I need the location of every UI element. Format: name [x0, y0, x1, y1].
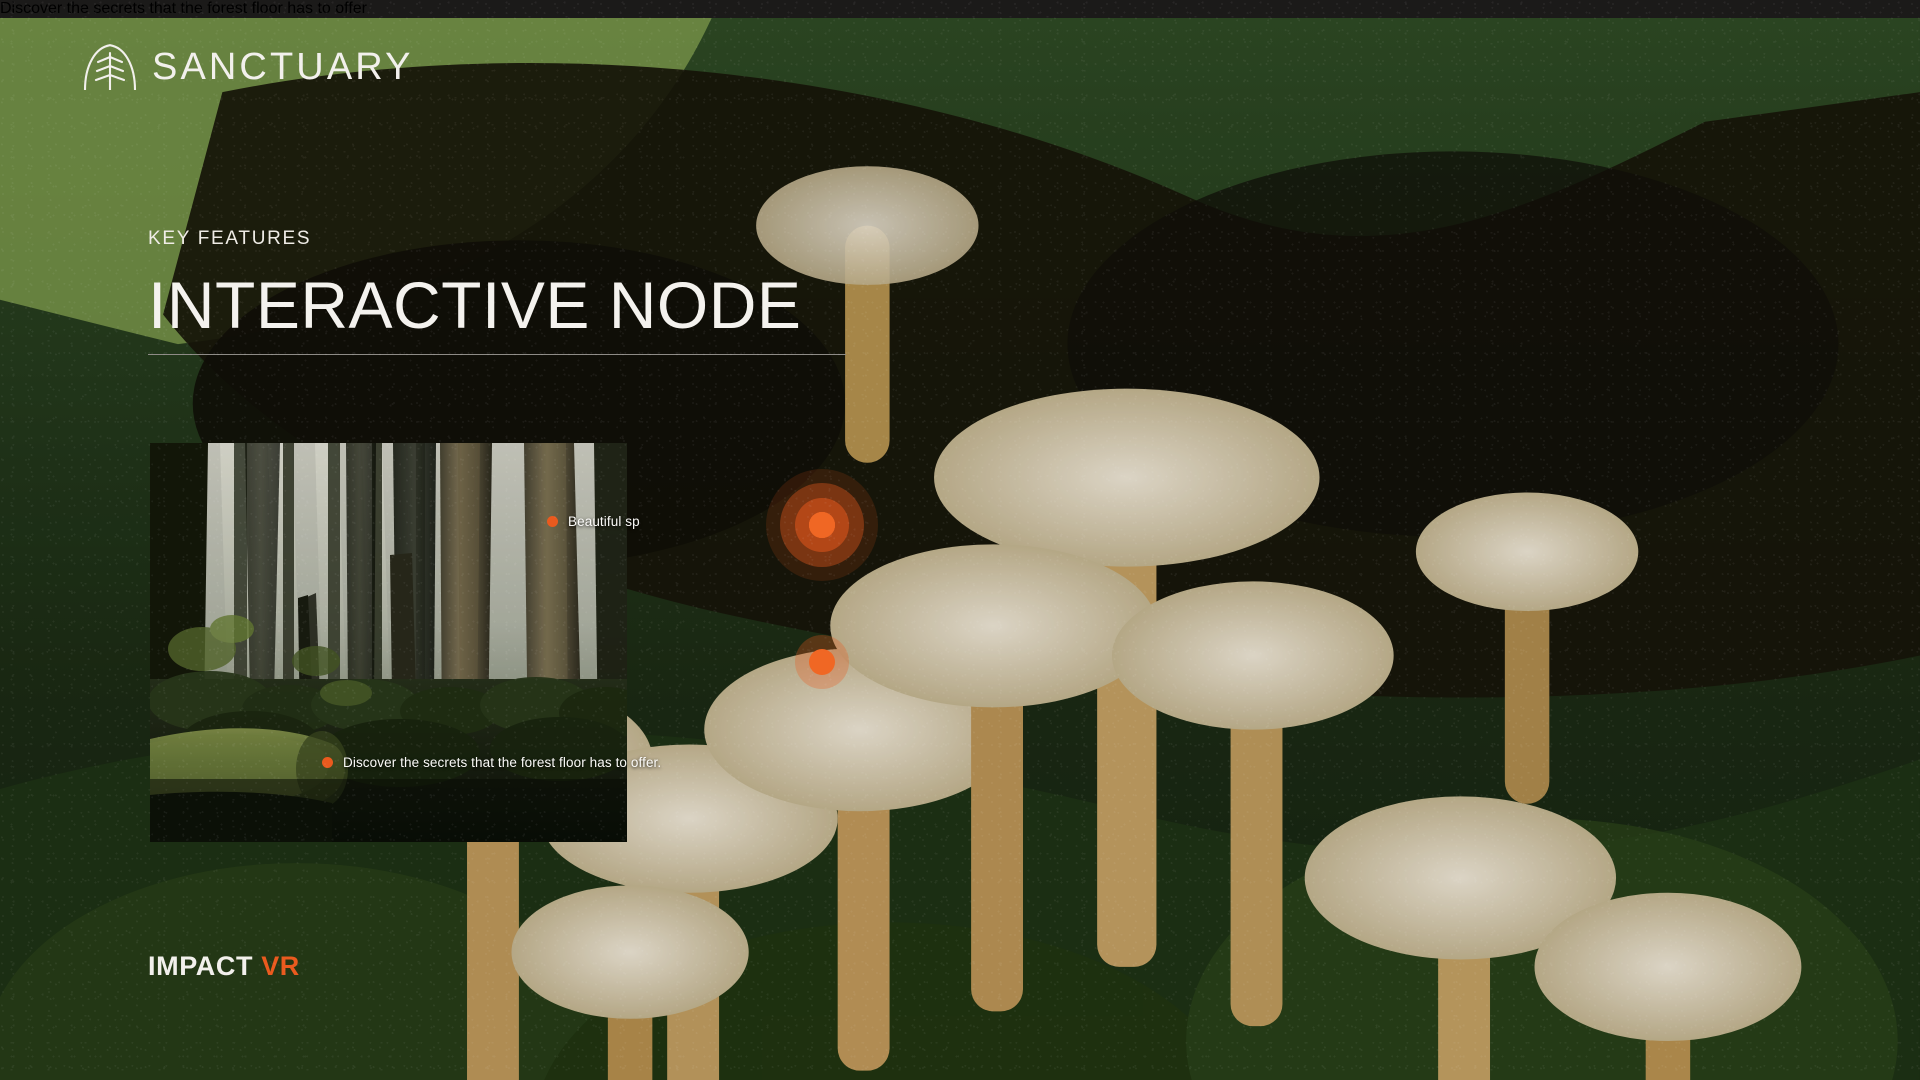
map-pin-dot-icon — [547, 516, 558, 527]
brand-logo[interactable]: SANCTUARY — [82, 44, 414, 90]
hero-pin-label: Discover the secrets that the forest flo… — [343, 755, 661, 770]
footer-brand-accent: VR — [261, 951, 300, 981]
node-core-icon — [809, 649, 835, 675]
footer-brand: IMPACT VR — [148, 951, 300, 982]
presentation-slide: SANCTUARY KEY FEATURES INTERACTIVE NODE — [0, 0, 1920, 1080]
interactive-node-4[interactable] — [767, 470, 877, 580]
page-title: INTERACTIVE NODE — [148, 272, 858, 338]
pine-tree-dome-icon — [82, 44, 138, 90]
hero-pin-2[interactable]: Discover the secrets that the forest flo… — [322, 755, 661, 770]
title-underline — [148, 354, 846, 355]
left-column: KEY FEATURES INTERACTIVE NODE — [148, 228, 858, 355]
interactive-node-2[interactable] — [767, 607, 877, 717]
map-pin-dot-icon — [322, 757, 333, 768]
info-card-title: Discover the secrets that the forest flo… — [0, 0, 1920, 18]
footer-brand-main: IMPACT — [148, 951, 253, 981]
hero-pin-1[interactable]: Beautiful sp — [547, 514, 640, 529]
brand-wordmark: SANCTUARY — [152, 48, 414, 86]
hero-pin-label: Beautiful sp — [568, 514, 640, 529]
section-eyebrow: KEY FEATURES — [148, 228, 858, 250]
hero-forest-image[interactable] — [150, 443, 627, 842]
node-core-icon — [809, 512, 835, 538]
